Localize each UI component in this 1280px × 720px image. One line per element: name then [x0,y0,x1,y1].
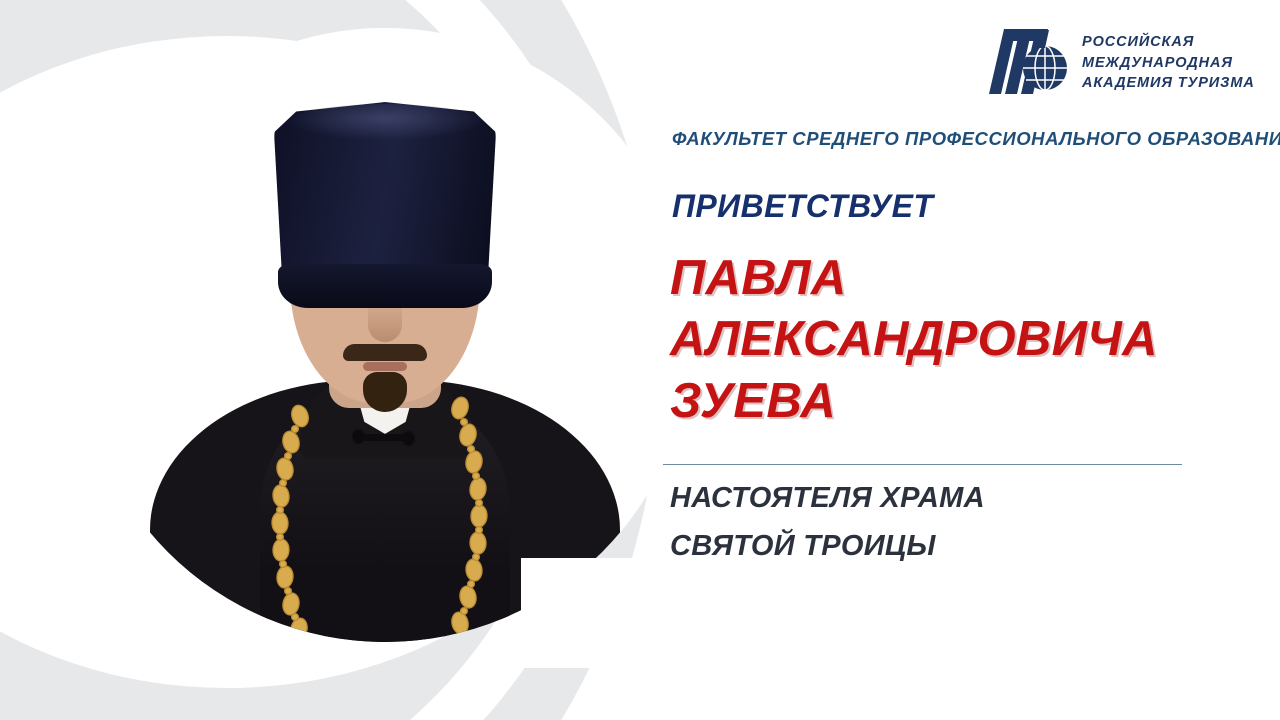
guest-role: НАСТОЯТЕЛЯ ХРАМА СВЯТОЙ ТРОИЦЫ [670,474,985,570]
greeting-slide: РОССИЙСКАЯ МЕЖДУНАРОДНАЯ АКАДЕМИЯ ТУРИЗМ… [0,0,1280,720]
greeting-verb: ПРИВЕТСТВУЕТ [672,188,933,225]
guest-role-line-1: НАСТОЯТЕЛЯ ХРАМА [670,474,985,522]
guest-name-line-1: ПАВЛА [670,248,1230,309]
riat-monogram-globe-icon [983,24,1069,102]
logo-line-1: РОССИЙСКАЯ [1082,32,1255,53]
guest-name: ПАВЛА АЛЕКСАНДРОВИЧА ЗУЕВА [670,248,1230,432]
portrait-white-cutout [521,558,641,668]
guest-role-line-2: СВЯТОЙ ТРОИЦЫ [670,522,985,570]
portrait-canvas [78,28,692,642]
guest-name-line-2: АЛЕКСАНДРОВИЧА [670,309,1230,370]
divider-line [663,464,1182,465]
guest-name-line-3: ЗУЕВА [670,371,1230,432]
logo-line-2: МЕЖДУНАРОДНАЯ [1082,53,1255,74]
faculty-heading: ФАКУЛЬТЕТ СРЕДНЕГО ПРОФЕССИОНАЛЬНОГО ОБР… [672,128,1262,150]
gold-chain-necklace [78,28,692,642]
portrait-photo [78,28,692,642]
logo-line-3: АКАДЕМИЯ ТУРИЗМА [1082,73,1255,94]
academy-logo-text: РОССИЙСКАЯ МЕЖДУНАРОДНАЯ АКАДЕМИЯ ТУРИЗМ… [1082,32,1255,94]
academy-logo: РОССИЙСКАЯ МЕЖДУНАРОДНАЯ АКАДЕМИЯ ТУРИЗМ… [983,24,1255,102]
